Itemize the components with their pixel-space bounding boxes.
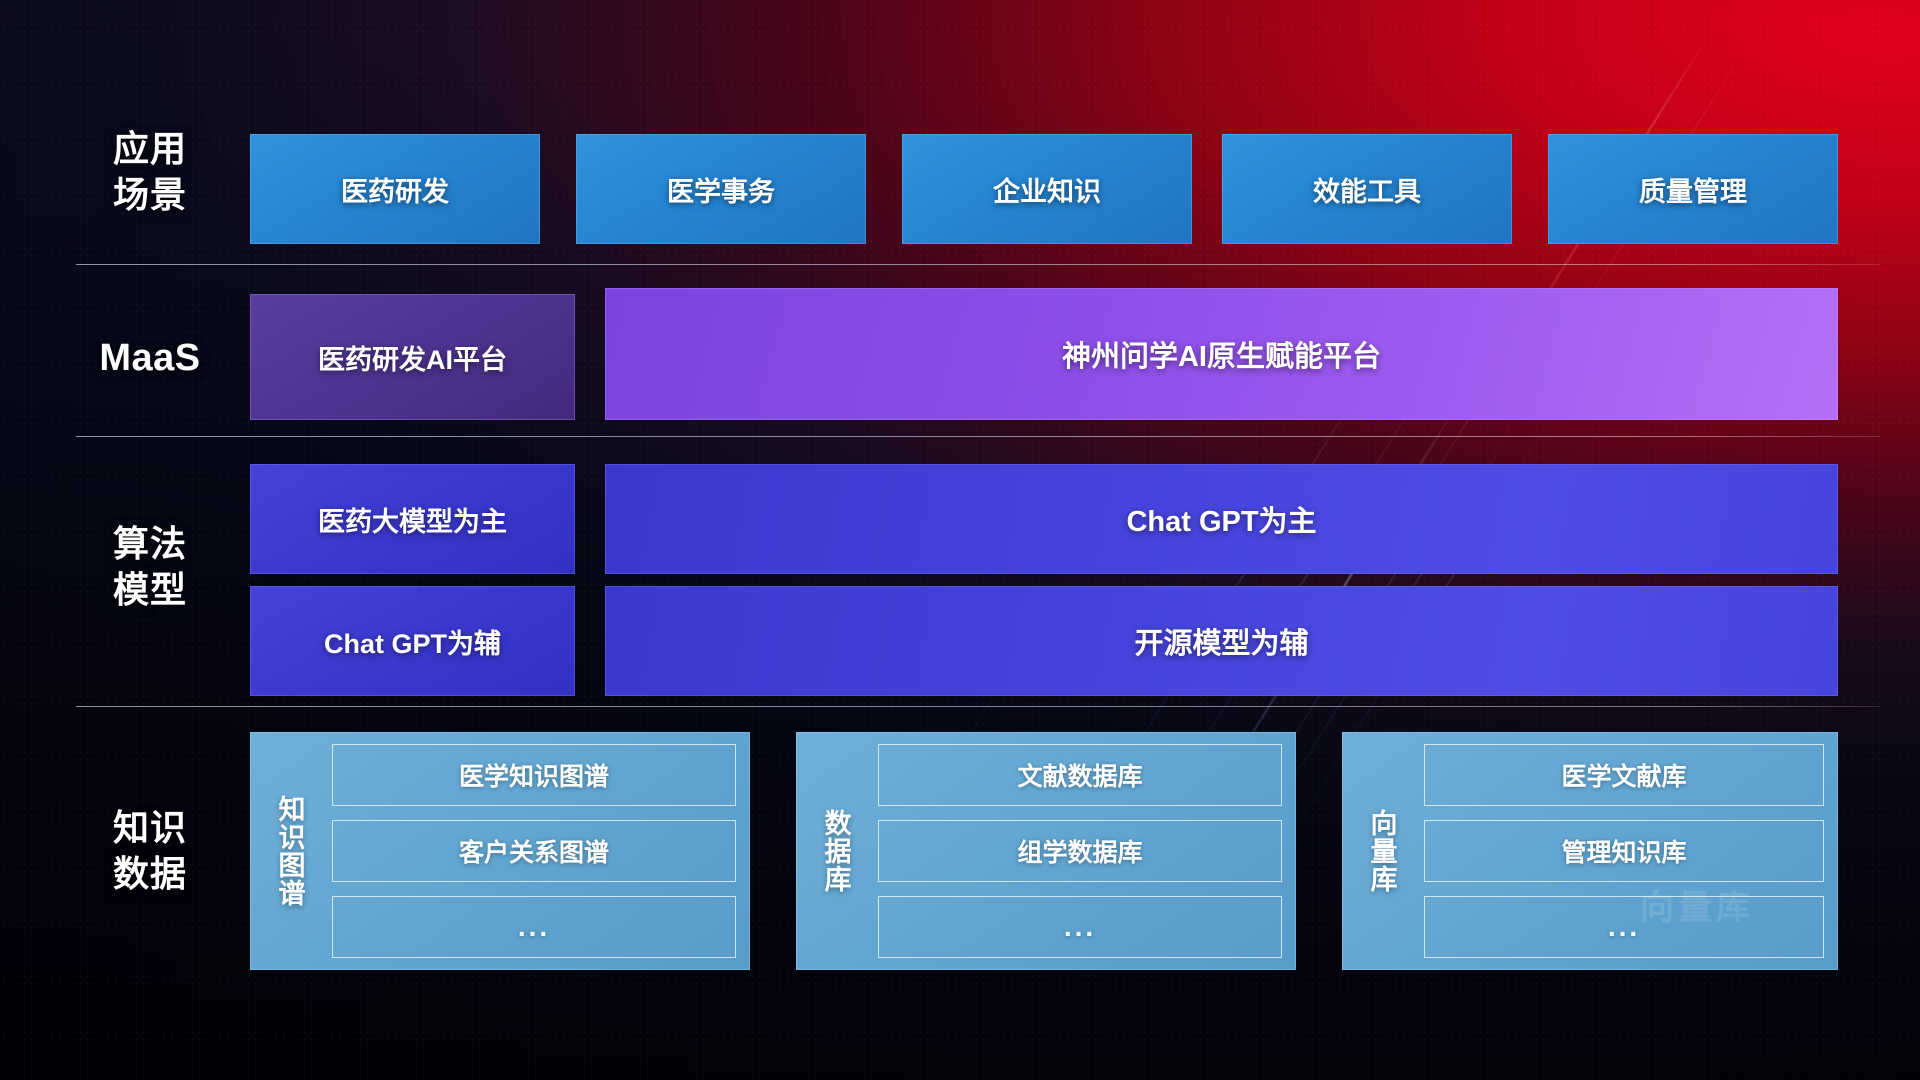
knowledge-item-list: 文献数据库 组学数据库 ...	[864, 744, 1282, 958]
app-card-drug-rd[interactable]: 医药研发	[250, 134, 540, 244]
knowledge-item[interactable]: 组学数据库	[878, 820, 1282, 882]
divider-algorithm-knowledge	[76, 706, 1880, 707]
algo-card-chatgpt-primary[interactable]: Chat GPT为主	[605, 464, 1838, 574]
app-card-label: 医学事务	[667, 170, 775, 209]
knowledge-item-more[interactable]: ...	[878, 896, 1282, 958]
row-label-algorithm: 算法 模型	[76, 521, 224, 613]
app-card-label: 医药研发	[341, 170, 449, 209]
algo-card-opensource-secondary[interactable]: 开源模型为辅	[605, 586, 1838, 696]
maas-card-label: 神州问学AI原生赋能平台	[1062, 333, 1381, 375]
divider-maas-algorithm	[76, 436, 1880, 437]
knowledge-item[interactable]: 管理知识库	[1424, 820, 1824, 882]
knowledge-group-title: 知识图谱	[260, 744, 318, 958]
knowledge-item[interactable]: 医学文献库	[1424, 744, 1824, 806]
row-label-application: 应用 场景	[76, 126, 224, 218]
algo-card-label: 医药大模型为主	[318, 500, 507, 539]
maas-card-shenzhou-wenxue-platform[interactable]: 神州问学AI原生赋能平台	[605, 288, 1838, 420]
knowledge-item-more[interactable]: ...	[1424, 896, 1824, 958]
knowledge-item-list: 医学文献库 管理知识库 ...	[1410, 744, 1824, 958]
knowledge-item[interactable]: 医学知识图谱	[332, 744, 736, 806]
app-card-efficiency-tools[interactable]: 效能工具	[1222, 134, 1512, 244]
knowledge-item-more[interactable]: ...	[332, 896, 736, 958]
algo-card-label: Chat GPT为辅	[324, 622, 501, 661]
row-label-maas: MaaS	[76, 335, 224, 381]
knowledge-item[interactable]: 客户关系图谱	[332, 820, 736, 882]
app-card-label: 企业知识	[993, 170, 1101, 209]
algo-card-label: Chat GPT为主	[1126, 498, 1316, 540]
knowledge-item[interactable]: 文献数据库	[878, 744, 1282, 806]
divider-application-maas	[76, 264, 1880, 265]
knowledge-group-title: 向量库	[1352, 744, 1410, 958]
algo-card-chatgpt-secondary[interactable]: Chat GPT为辅	[250, 586, 575, 696]
algo-card-pharma-llm-primary[interactable]: 医药大模型为主	[250, 464, 575, 574]
app-card-enterprise-knowledge[interactable]: 企业知识	[902, 134, 1192, 244]
app-card-medical-affairs[interactable]: 医学事务	[576, 134, 866, 244]
knowledge-group-knowledge-graph[interactable]: 知识图谱 医学知识图谱 客户关系图谱 ...	[250, 732, 750, 970]
app-card-label: 质量管理	[1639, 170, 1747, 209]
knowledge-group-title: 数据库	[806, 744, 864, 958]
knowledge-group-database[interactable]: 数据库 文献数据库 组学数据库 ...	[796, 732, 1296, 970]
architecture-diagram: 应用 场景 医药研发 医学事务 企业知识 效能工具 质量管理 MaaS 医药研发…	[0, 0, 1920, 1080]
app-card-quality-management[interactable]: 质量管理	[1548, 134, 1838, 244]
maas-card-label: 医药研发AI平台	[318, 338, 507, 377]
algo-card-label: 开源模型为辅	[1134, 620, 1308, 662]
row-label-knowledge: 知识 数据	[76, 805, 224, 897]
app-card-label: 效能工具	[1313, 170, 1421, 209]
knowledge-item-list: 医学知识图谱 客户关系图谱 ...	[318, 744, 736, 958]
knowledge-group-vector-store[interactable]: 向量库 医学文献库 管理知识库 ...	[1342, 732, 1838, 970]
maas-card-drug-rd-ai-platform[interactable]: 医药研发AI平台	[250, 294, 575, 420]
